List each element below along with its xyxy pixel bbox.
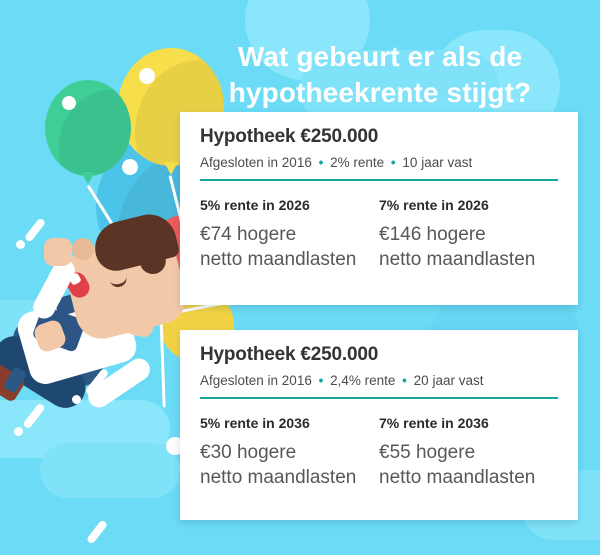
mortgage-card-20-year: Hypotheek €250.000 Afgesloten in 2016 • …: [180, 330, 578, 520]
scenario-value-line2: netto maandlasten: [379, 247, 558, 272]
bullet-separator-icon: •: [316, 373, 327, 388]
mortgage-card-10-year: Hypotheek €250.000 Afgesloten in 2016 • …: [180, 112, 578, 305]
scenario-label: 7% rente in 2026: [379, 197, 558, 213]
streak-dot-upper-left: [16, 240, 25, 249]
card-columns: 5% rente in 2036 €30 hogere netto maandl…: [200, 415, 558, 490]
streak-upper-left: [24, 217, 46, 242]
card-subtitle-part-3: 10 jaar vast: [402, 155, 472, 170]
scenario-value-line2: netto maandlasten: [379, 465, 558, 490]
scenario-label: 7% rente in 2036: [379, 415, 558, 431]
card-subtitle: Afgesloten in 2016 • 2% rente • 10 jaar …: [200, 155, 558, 170]
bullet-separator-icon: •: [388, 155, 399, 170]
card-subtitle-part-1: Afgesloten in 2016: [200, 373, 312, 388]
card-divider: [200, 397, 558, 399]
bullet-separator-icon: •: [399, 373, 410, 388]
page-title: Wat gebeurt er als de hypotheekrente sti…: [180, 39, 580, 111]
scenario-label: 5% rente in 2036: [200, 415, 379, 431]
scenario-value-line1: €146 hogere: [379, 222, 558, 247]
streak-dot-mid: [72, 395, 81, 404]
scenario-value: €30 hogere netto maandlasten: [200, 440, 379, 490]
scenario-column: 7% rente in 2026 €146 hogere netto maand…: [379, 197, 558, 272]
bullet-separator-icon: •: [316, 155, 327, 170]
card-subtitle-part-1: Afgesloten in 2016: [200, 155, 312, 170]
card-title: Hypotheek €250.000: [200, 126, 558, 148]
streak-bottom: [86, 519, 108, 544]
scenario-value: €74 hogere netto maandlasten: [200, 222, 379, 272]
streak-dot-lower-left: [14, 427, 23, 436]
streak-lower-left: [22, 403, 46, 430]
card-subtitle-part-2: 2,4% rente: [330, 373, 395, 388]
infographic-canvas: Wat gebeurt er als de hypotheekrente sti…: [0, 0, 600, 555]
card-subtitle: Afgesloten in 2016 • 2,4% rente • 20 jaa…: [200, 373, 558, 388]
scenario-value-line1: €55 hogere: [379, 440, 558, 465]
card-subtitle-part-3: 20 jaar vast: [414, 373, 484, 388]
card-columns: 5% rente in 2026 €74 hogere netto maandl…: [200, 197, 558, 272]
scenario-column: 7% rente in 2036 €55 hogere netto maandl…: [379, 415, 558, 490]
streak-mid: [85, 368, 110, 397]
scenario-value-line2: netto maandlasten: [200, 247, 379, 272]
card-divider: [200, 179, 558, 181]
scenario-column: 5% rente in 2026 €74 hogere netto maandl…: [200, 197, 379, 272]
scenario-value-line2: netto maandlasten: [200, 465, 379, 490]
card-title: Hypotheek €250.000: [200, 344, 558, 366]
scenario-value: €146 hogere netto maandlasten: [379, 222, 558, 272]
scenario-value-line1: €30 hogere: [200, 440, 379, 465]
scenario-value-line1: €74 hogere: [200, 222, 379, 247]
card-subtitle-part-2: 2% rente: [330, 155, 384, 170]
scenario-column: 5% rente in 2036 €30 hogere netto maandl…: [200, 415, 379, 490]
scenario-value: €55 hogere netto maandlasten: [379, 440, 558, 490]
scenario-label: 5% rente in 2026: [200, 197, 379, 213]
